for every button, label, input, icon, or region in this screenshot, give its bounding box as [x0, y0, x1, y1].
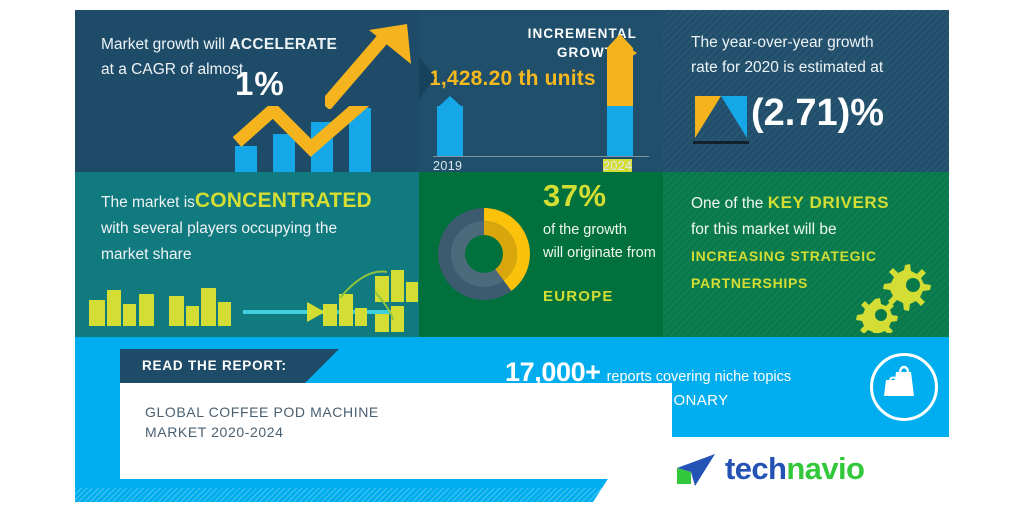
- gears-icon: [845, 259, 935, 333]
- key-drivers-keyword: KEY DRIVERS: [768, 193, 890, 212]
- technavio-wordmark-tech: tech: [725, 451, 786, 486]
- key-drivers-line1-prefix: One of the: [691, 195, 768, 212]
- bar-stem-2024-blue: [607, 106, 633, 156]
- report-title-line2: MARKET 2020-2024: [145, 424, 284, 440]
- top-row: Market growth will ACCELERATE at a CAGR …: [75, 10, 949, 172]
- down-arrow-underline: [693, 141, 749, 144]
- flow-arrow-head-icon: [307, 302, 325, 322]
- incremental-growth-value: 1,428.20 th units: [429, 67, 596, 91]
- shopping-bags-icon: [870, 353, 938, 421]
- europe-caption: of the growth will originate from: [543, 219, 671, 265]
- read-the-report-label: READ THE REPORT:: [142, 358, 287, 373]
- technavio-wordmark: technavio: [725, 451, 864, 487]
- read-the-report-banner-corner: [305, 349, 339, 383]
- middle-row: The market isCONCENTRATED with several p…: [75, 172, 949, 337]
- europe-region-label: EUROPE: [543, 288, 614, 305]
- yoy-line1: The year-over-year growth: [691, 34, 874, 51]
- yoy-line2: rate for 2020 is estimated at: [691, 59, 883, 76]
- cagr-value: 1%: [235, 65, 285, 103]
- market-growth-line2: at a CAGR of almost: [101, 61, 243, 78]
- reports-count: 17,000+: [505, 357, 601, 387]
- europe-percent: 37%: [543, 178, 607, 214]
- reports-count-row: 17,000+reports covering niche topics: [505, 357, 791, 388]
- incremental-year-start: 2019: [433, 159, 462, 173]
- panel-market-growth: Market growth will ACCELERATE at a CAGR …: [75, 10, 419, 172]
- reports-caption: reports covering niche topics: [607, 369, 792, 385]
- incremental-bar-2024: [607, 34, 633, 156]
- report-title-line1: GLOBAL COFFEE POD MACHINE: [145, 404, 379, 420]
- bar-cap-2024: [607, 34, 633, 48]
- europe-line1: of the growth: [543, 222, 627, 238]
- concentrated-line1-prefix: The market is: [101, 194, 195, 211]
- panel-divider-notch-1: [419, 56, 435, 100]
- panel-incremental-growth: INCREMENTAL GROWTH 1,428.20 th units 201…: [419, 10, 663, 172]
- panel-yoy-growth: The year-over-year growth rate for 2020 …: [663, 10, 949, 172]
- growth-bar-chart: [233, 106, 423, 172]
- yoy-text: The year-over-year growth rate for 2020 …: [691, 30, 931, 80]
- concentrated-keyword: CONCENTRATED: [195, 189, 372, 212]
- incremental-axis: [433, 156, 649, 157]
- down-arrow-left-half: [695, 96, 721, 138]
- sector-label: CONSUMER DISCRETIONARY: [505, 392, 729, 409]
- concentrated-text: The market isCONCENTRATED with several p…: [101, 188, 411, 268]
- market-players-diagram: [75, 270, 419, 332]
- yoy-value: (2.71)%: [751, 92, 884, 135]
- growth-arrow-head-icon: [325, 24, 420, 109]
- building-cluster-left-2: [169, 288, 231, 326]
- building-cluster-right-2: [375, 270, 418, 302]
- building-cluster-left-1: [89, 290, 154, 326]
- incremental-bar-2019: [437, 96, 463, 156]
- read-them-at-label: Read them at:: [505, 419, 590, 434]
- down-arrow-right-half: [721, 96, 747, 138]
- panel-concentrated: The market isCONCENTRATED with several p…: [75, 172, 419, 337]
- technavio-logo-panel: technavio: [635, 437, 949, 502]
- europe-line2: will originate from: [543, 245, 656, 261]
- technavio-wordmark-navio: navio: [786, 451, 864, 486]
- bar-stem-2019: [437, 106, 463, 156]
- incremental-year-end: 2024: [603, 159, 632, 172]
- panel-key-drivers: One of the KEY DRIVERS for this market w…: [663, 172, 949, 337]
- donut-hole: [465, 235, 503, 273]
- concentrated-line2: with several players occupying the: [101, 220, 337, 237]
- key-drivers-line2: for this market will be: [691, 221, 837, 238]
- technavio-logo-mark-icon: [673, 453, 717, 487]
- growth-trend-arrow-icon: [233, 106, 423, 172]
- panel-europe-share: 37% of the growth will originate from EU…: [419, 172, 663, 337]
- market-growth-accelerate: ACCELERATE: [229, 36, 337, 53]
- read-the-report-banner: READ THE REPORT:: [120, 349, 305, 383]
- down-arrow-icon: [693, 96, 749, 156]
- footer-row: READ THE REPORT: GLOBAL COFFEE POD MACHI…: [75, 337, 949, 502]
- building-cluster-right-1: [323, 294, 367, 326]
- market-growth-line1-prefix: Market growth will: [101, 36, 229, 53]
- infographic-root: Market growth will ACCELERATE at a CAGR …: [75, 10, 949, 502]
- key-drivers-line4: PARTNERSHIPS: [691, 275, 808, 291]
- europe-donut-chart: [429, 194, 539, 314]
- report-title: GLOBAL COFFEE POD MACHINE MARKET 2020-20…: [145, 402, 565, 442]
- concentrated-line3: market share: [101, 246, 191, 263]
